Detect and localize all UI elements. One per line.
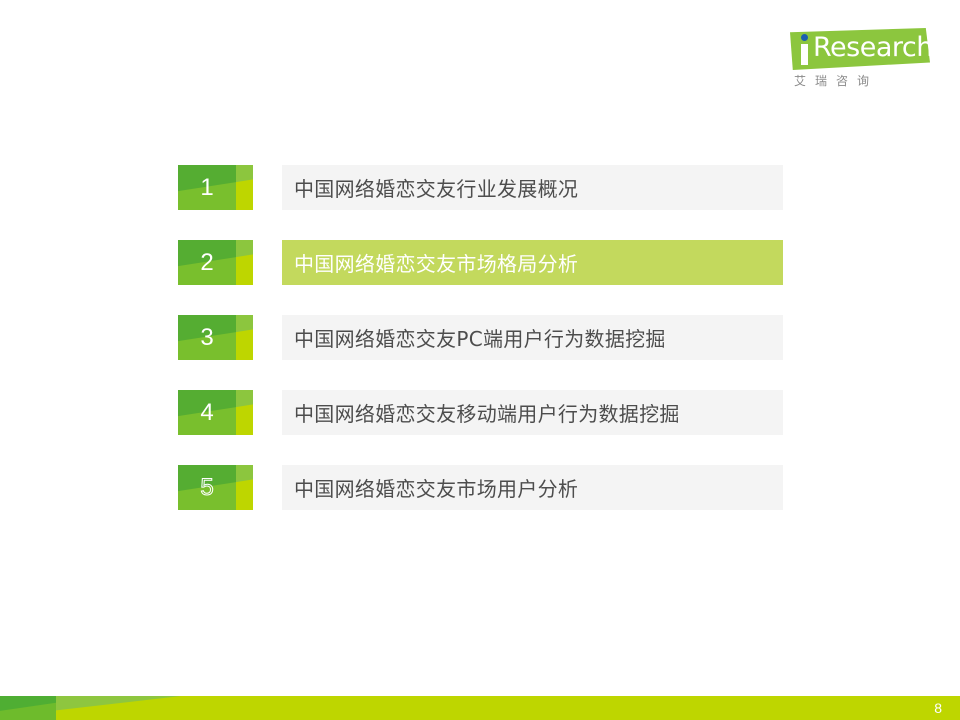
logo-mark: Research — [790, 28, 930, 70]
agenda-title-bar[interactable]: 中国网络婚恋交友移动端用户行为数据挖掘 — [282, 390, 783, 435]
agenda-number-label: 4 — [178, 390, 236, 435]
agenda-number-label: 2 — [178, 240, 236, 285]
agenda-item-4[interactable]: 4 中国网络婚恋交友移动端用户行为数据挖掘 — [178, 390, 788, 435]
slide-footer: 8 — [0, 696, 960, 720]
agenda-title-label: 中国网络婚恋交友行业发展概况 — [282, 173, 578, 202]
iresearch-logo: Research 艾瑞咨询 — [780, 28, 935, 90]
agenda-number-badge: 1 — [178, 165, 253, 210]
agenda-title-label: 中国网络婚恋交友市场用户分析 — [282, 473, 578, 502]
agenda-number-badge: 4 — [178, 390, 253, 435]
slide-canvas: Research 艾瑞咨询 1 中国网络婚恋交友行业发展概况 2 — [0, 0, 960, 720]
logo-wordmark: Research — [813, 33, 933, 63]
logo-i-stem-icon — [801, 44, 808, 65]
agenda-number-label: 1 — [178, 165, 236, 210]
logo-chinese-name: 艾瑞咨询 — [794, 72, 924, 89]
agenda-number-badge: 5 — [178, 465, 253, 510]
agenda-item-2[interactable]: 2 中国网络婚恋交友市场格局分析 — [178, 240, 788, 285]
agenda-item-5[interactable]: 5 中国网络婚恋交友市场用户分析 — [178, 465, 788, 510]
agenda-number-badge: 3 — [178, 315, 253, 360]
logo-letter-i-icon — [800, 34, 809, 64]
agenda-title-bar[interactable]: 中国网络婚恋交友PC端用户行为数据挖掘 — [282, 315, 783, 360]
agenda-title-bar-active[interactable]: 中国网络婚恋交友市场格局分析 — [282, 240, 783, 285]
agenda-title-label: 中国网络婚恋交友PC端用户行为数据挖掘 — [282, 323, 666, 352]
page-number: 8 — [934, 696, 942, 720]
logo-i-dot-icon — [801, 34, 808, 41]
agenda-title-label: 中国网络婚恋交友市场格局分析 — [282, 248, 578, 277]
agenda-title-bar[interactable]: 中国网络婚恋交友市场用户分析 — [282, 465, 783, 510]
agenda-list: 1 中国网络婚恋交友行业发展概况 2 中国网络婚恋交友市场格局分析 — [178, 165, 788, 510]
agenda-item-3[interactable]: 3 中国网络婚恋交友PC端用户行为数据挖掘 — [178, 315, 788, 360]
agenda-item-1[interactable]: 1 中国网络婚恋交友行业发展概况 — [178, 165, 788, 210]
agenda-number-label: 5 — [178, 465, 236, 510]
agenda-number-badge: 2 — [178, 240, 253, 285]
agenda-title-label: 中国网络婚恋交友移动端用户行为数据挖掘 — [282, 398, 680, 427]
agenda-number-label: 3 — [178, 315, 236, 360]
agenda-title-bar[interactable]: 中国网络婚恋交友行业发展概况 — [282, 165, 783, 210]
